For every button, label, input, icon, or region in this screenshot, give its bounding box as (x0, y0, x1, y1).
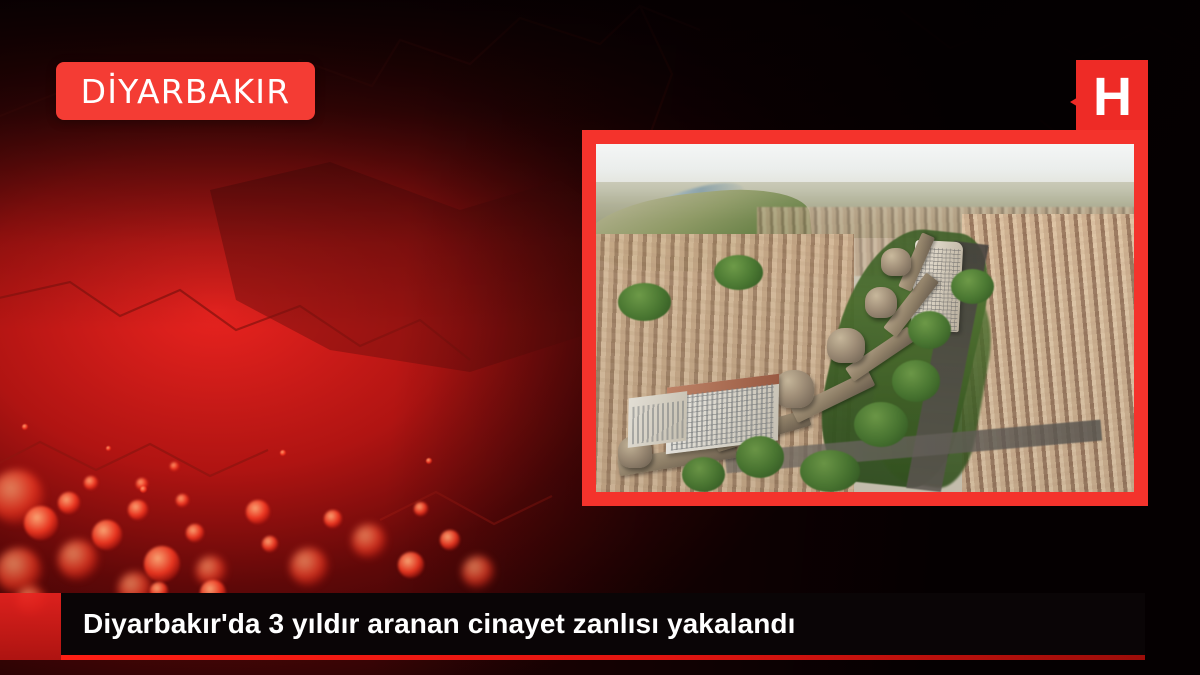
headline-text: Diyarbakır'da 3 yıldır aranan cinayet za… (61, 610, 796, 638)
photo-bastion-tower (774, 370, 814, 408)
caption-underline (61, 655, 1145, 660)
photo-bastion-tower (827, 328, 865, 363)
photo-tree-cluster (951, 269, 994, 304)
caption-bar: Diyarbakır'da 3 yıldır aranan cinayet za… (61, 593, 1145, 655)
photo-tree-cluster (854, 402, 908, 447)
city-badge: DİYARBAKIR (56, 62, 315, 120)
photo-tree-cluster (908, 311, 951, 349)
caption-left-glow (0, 593, 62, 660)
photo-bastion-tower (881, 248, 911, 276)
photo-tree-cluster (736, 436, 784, 478)
logo-letter: H (1093, 70, 1131, 124)
photo-secondary-building (628, 391, 688, 447)
photo-frame (582, 130, 1148, 506)
haberler-h-logo[interactable]: H (1076, 60, 1148, 134)
aerial-city-photo (596, 144, 1134, 492)
city-badge-label: DİYARBAKIR (81, 75, 291, 108)
photo-tree-cluster (682, 457, 725, 492)
photo-tree-cluster (800, 450, 859, 492)
photo-tree-cluster (892, 360, 940, 402)
photo-bastion-tower (865, 287, 897, 318)
news-thumbnail-card: DİYARBAKIR H (0, 0, 1200, 675)
photo-tree-cluster (714, 255, 762, 290)
